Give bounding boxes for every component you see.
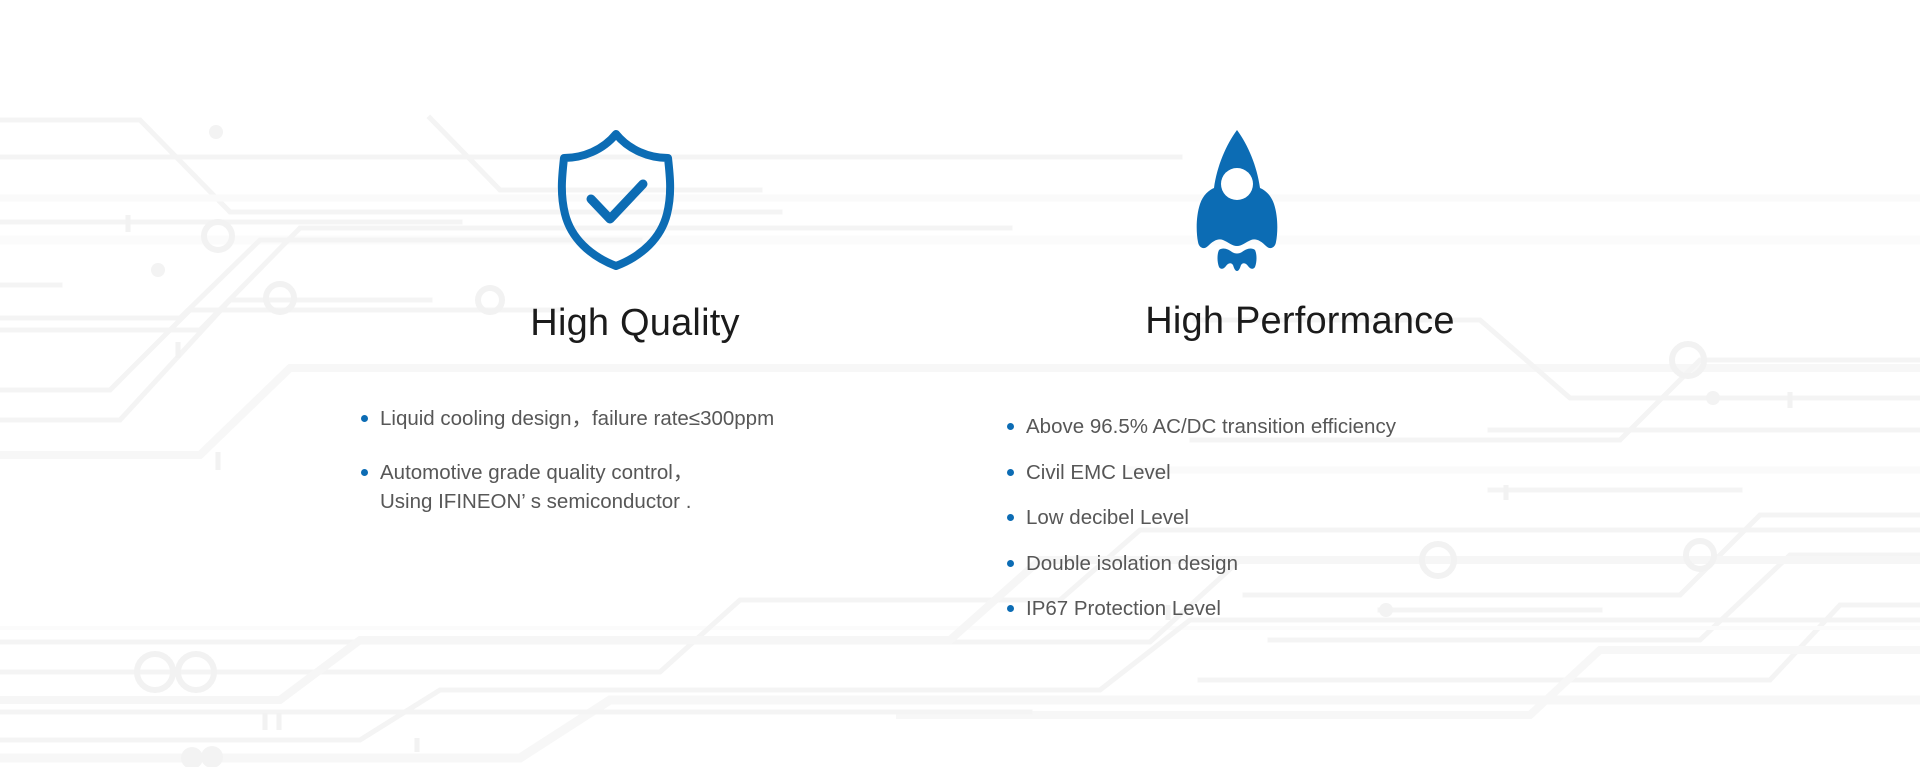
list-item: Automotive grade quality control， Using … [358, 458, 774, 516]
list-item: Liquid cooling design，failure rate≤300pp… [358, 404, 774, 433]
list-item: Low decibel Level [1004, 503, 1396, 532]
list-item: IP67 Protection Level [1004, 594, 1396, 623]
list-item: Civil EMC Level [1004, 458, 1396, 487]
features-section: High Quality Liquid cooling design，failu… [0, 0, 1920, 767]
feature-bullets-high-quality: Liquid cooling design，failure rate≤300pp… [358, 404, 774, 541]
feature-bullets-high-performance: Above 96.5% AC/DC transition efficiency … [1004, 412, 1396, 640]
rocket-icon [1195, 128, 1279, 278]
list-item: Above 96.5% AC/DC transition efficiency [1004, 412, 1396, 441]
feature-title-high-performance: High Performance [990, 300, 1610, 343]
shield-check-icon [555, 128, 677, 276]
list-item: Double isolation design [1004, 549, 1396, 578]
feature-title-high-quality: High Quality [330, 302, 940, 345]
